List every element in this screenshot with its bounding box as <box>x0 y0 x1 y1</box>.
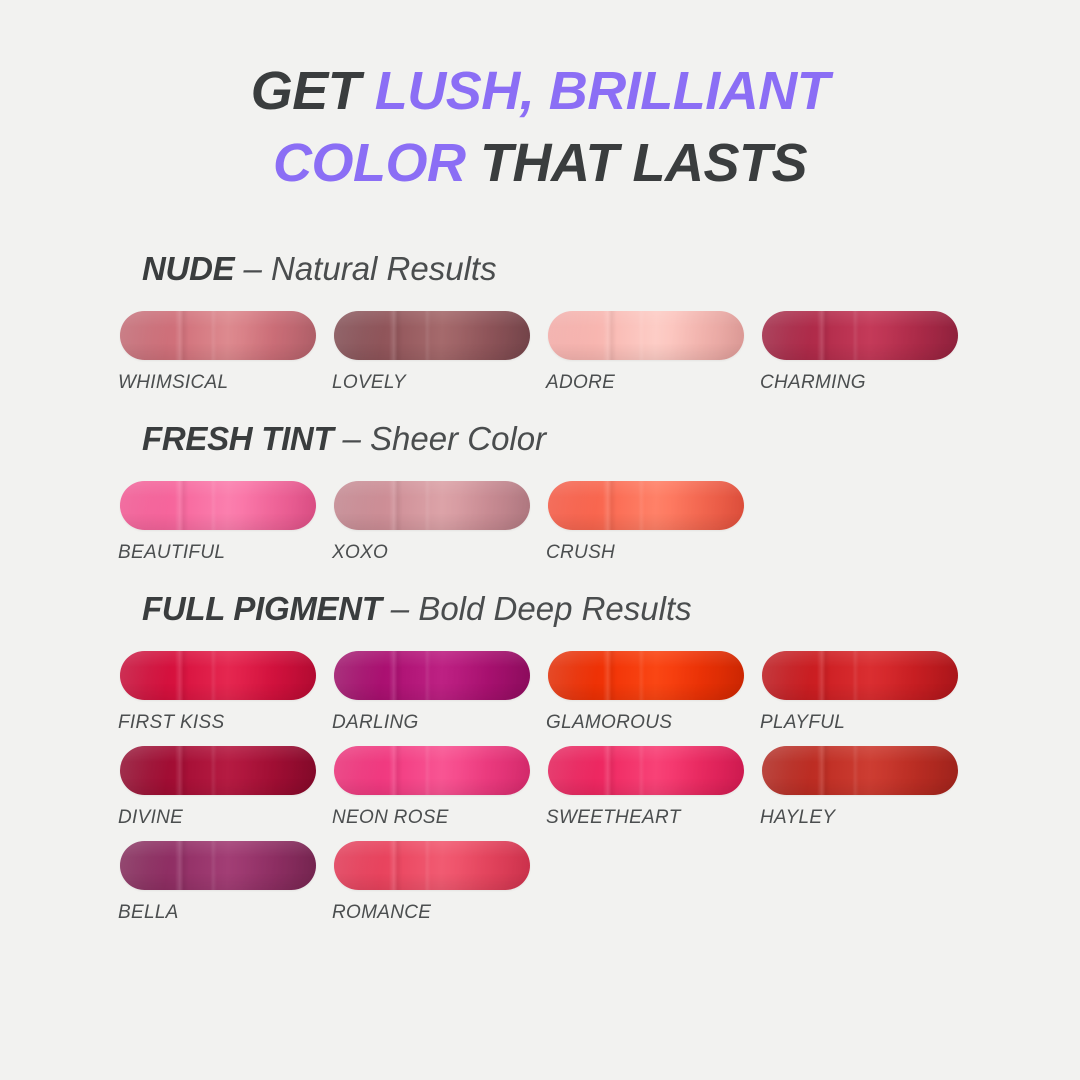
swatch-color-chip[interactable] <box>120 311 316 360</box>
swatch-item[interactable]: CHARMING <box>762 311 958 394</box>
swatch-label: HAYLEY <box>760 807 958 829</box>
swatch-color-chip[interactable] <box>334 481 530 530</box>
swatch-label: NEON ROSE <box>332 807 530 829</box>
swatch-color-chip[interactable] <box>120 651 316 700</box>
section-description: – Sheer Color <box>333 420 546 457</box>
section-heading: FULL PIGMENT – Bold Deep Results <box>142 576 1080 651</box>
headline-lush-brilliant: LUSH, BRILLIANT <box>375 61 829 121</box>
swatch-item[interactable]: NEON ROSE <box>334 746 530 829</box>
headline-that-lasts: THAT LASTS <box>466 133 807 193</box>
swatch-item[interactable]: XOXO <box>334 481 530 564</box>
section-description: – Bold Deep Results <box>382 590 692 627</box>
swatch-item[interactable]: ROMANCE <box>334 841 530 924</box>
swatch-label: BELLA <box>118 902 316 924</box>
swatch-color-chip[interactable] <box>120 746 316 795</box>
swatch-label: BEAUTIFUL <box>118 542 316 564</box>
swatch-item[interactable]: SWEETHEART <box>548 746 744 829</box>
shade-sections: NUDE – Natural ResultsWHIMSICALLOVELYADO… <box>0 236 1080 936</box>
swatch-item[interactable]: PLAYFUL <box>762 651 958 734</box>
swatch-color-chip[interactable] <box>334 311 530 360</box>
swatch-grid: FIRST KISSDARLINGGLAMOROUSPLAYFULDIVINEN… <box>120 651 980 936</box>
section-heading: NUDE – Natural Results <box>142 236 1080 311</box>
swatch-item[interactable]: HAYLEY <box>762 746 958 829</box>
section-name: NUDE <box>142 250 234 287</box>
swatch-item[interactable]: DIVINE <box>120 746 316 829</box>
section-name: FRESH TINT <box>142 420 333 457</box>
swatch-label: GLAMOROUS <box>546 712 744 734</box>
swatch-color-chip[interactable] <box>762 311 958 360</box>
swatch-grid: WHIMSICALLOVELYADORECHARMING <box>120 311 980 406</box>
swatch-color-chip[interactable] <box>334 651 530 700</box>
swatch-label: SWEETHEART <box>546 807 744 829</box>
section-description: – Natural Results <box>234 250 496 287</box>
swatch-color-chip[interactable] <box>762 746 958 795</box>
swatch-item[interactable]: FIRST KISS <box>120 651 316 734</box>
shade-section: FRESH TINT – Sheer ColorBEAUTIFULXOXOCRU… <box>0 406 1080 576</box>
swatch-label: ROMANCE <box>332 902 530 924</box>
swatch-item[interactable]: ADORE <box>548 311 744 394</box>
shade-section: FULL PIGMENT – Bold Deep ResultsFIRST KI… <box>0 576 1080 936</box>
swatch-color-chip[interactable] <box>334 746 530 795</box>
swatch-item[interactable]: BEAUTIFUL <box>120 481 316 564</box>
swatch-color-chip[interactable] <box>548 651 744 700</box>
swatch-label: DARLING <box>332 712 530 734</box>
headline-color: COLOR <box>273 133 466 193</box>
headline-get: GET <box>251 61 375 121</box>
section-heading: FRESH TINT – Sheer Color <box>142 406 1080 481</box>
swatch-color-chip[interactable] <box>548 311 744 360</box>
swatch-label: LOVELY <box>332 372 530 394</box>
swatch-color-chip[interactable] <box>120 841 316 890</box>
shade-section: NUDE – Natural ResultsWHIMSICALLOVELYADO… <box>0 236 1080 406</box>
swatch-label: ADORE <box>546 372 744 394</box>
swatch-label: PLAYFUL <box>760 712 958 734</box>
swatch-label: WHIMSICAL <box>118 372 316 394</box>
swatch-color-chip[interactable] <box>548 746 744 795</box>
swatch-color-chip[interactable] <box>548 481 744 530</box>
swatch-label: CRUSH <box>546 542 744 564</box>
swatch-item[interactable]: BELLA <box>120 841 316 924</box>
swatch-item[interactable]: GLAMOROUS <box>548 651 744 734</box>
swatch-label: DIVINE <box>118 807 316 829</box>
swatch-color-chip[interactable] <box>334 841 530 890</box>
swatch-color-chip[interactable] <box>120 481 316 530</box>
swatch-label: XOXO <box>332 542 530 564</box>
swatch-label: FIRST KISS <box>118 712 316 734</box>
swatch-item[interactable]: WHIMSICAL <box>120 311 316 394</box>
section-name: FULL PIGMENT <box>142 590 382 627</box>
swatch-grid: BEAUTIFULXOXOCRUSH <box>120 481 980 576</box>
swatch-label: CHARMING <box>760 372 958 394</box>
swatch-item[interactable]: CRUSH <box>548 481 744 564</box>
page-title: GET LUSH, BRILLIANTCOLOR THAT LASTS <box>0 56 1080 200</box>
swatch-item[interactable]: LOVELY <box>334 311 530 394</box>
swatch-item[interactable]: DARLING <box>334 651 530 734</box>
swatch-color-chip[interactable] <box>762 651 958 700</box>
